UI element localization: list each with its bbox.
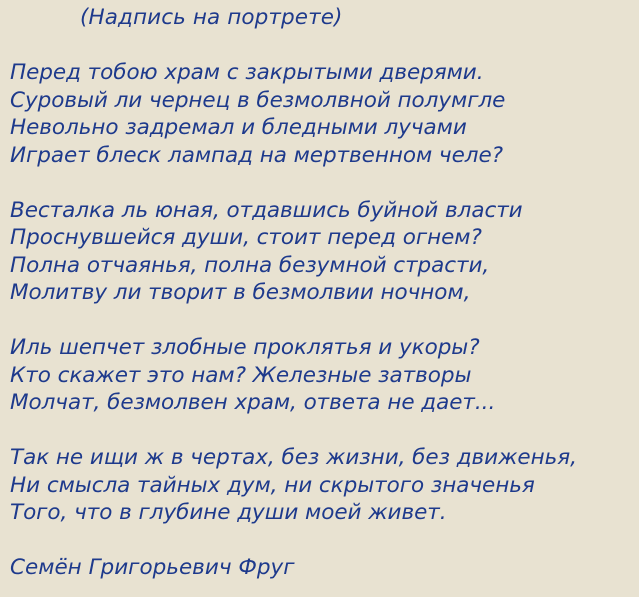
- stanza-4: Так не ищи ж в чертах, без жизни, без дв…: [10, 444, 639, 527]
- poem-title: (Надпись на портрете): [10, 4, 639, 32]
- stanza-1: Перед тобою храм с закрытыми дверями. Су…: [10, 59, 639, 169]
- poem-line: Играет блеск лампад на мертвенном челе?: [10, 142, 639, 170]
- poem-line: Молчат, безмолвен храм, ответа не дает..…: [10, 389, 639, 417]
- poem-author: Семён Григорьевич Фруг: [10, 554, 639, 582]
- poem-line: Суровый ли чернец в безмолвной полумгле: [10, 87, 639, 115]
- spacer: [10, 307, 639, 335]
- poem-line: Кто скажет это нам? Железные затворы: [10, 362, 639, 390]
- stanza-3: Иль шепчет злобные проклятья и укоры? Кт…: [10, 334, 639, 417]
- poem-line: Так не ищи ж в чертах, без жизни, без дв…: [10, 444, 639, 472]
- poem-line: Ни смысла тайных дум, ни скрытого значен…: [10, 472, 639, 500]
- poem-body: (Надпись на портрете) Перед тобою храм с…: [10, 4, 639, 582]
- poem-line: Перед тобою храм с закрытыми дверями.: [10, 59, 639, 87]
- spacer: [10, 169, 639, 197]
- poem-line: Полна отчаянья, полна безумной страсти,: [10, 252, 639, 280]
- poem-line: Невольно задремал и бледными лучами: [10, 114, 639, 142]
- poem-line: Проснувшейся души, стоит перед огнем?: [10, 224, 639, 252]
- spacer: [10, 32, 639, 60]
- spacer: [10, 417, 639, 445]
- poem-line: Иль шепчет злобные проклятья и укоры?: [10, 334, 639, 362]
- poem-line: Весталка ль юная, отдавшись буйной власт…: [10, 197, 639, 225]
- poem-page: (Надпись на портрете) Перед тобою храм с…: [0, 0, 639, 597]
- author-block: Семён Григорьевич Фруг: [10, 554, 639, 582]
- poem-line: Того, что в глубине души моей живет.: [10, 499, 639, 527]
- poem-line: Молитву ли творит в безмолвии ночном,: [10, 279, 639, 307]
- spacer: [10, 527, 639, 555]
- stanza-2: Весталка ль юная, отдавшись буйной власт…: [10, 197, 639, 307]
